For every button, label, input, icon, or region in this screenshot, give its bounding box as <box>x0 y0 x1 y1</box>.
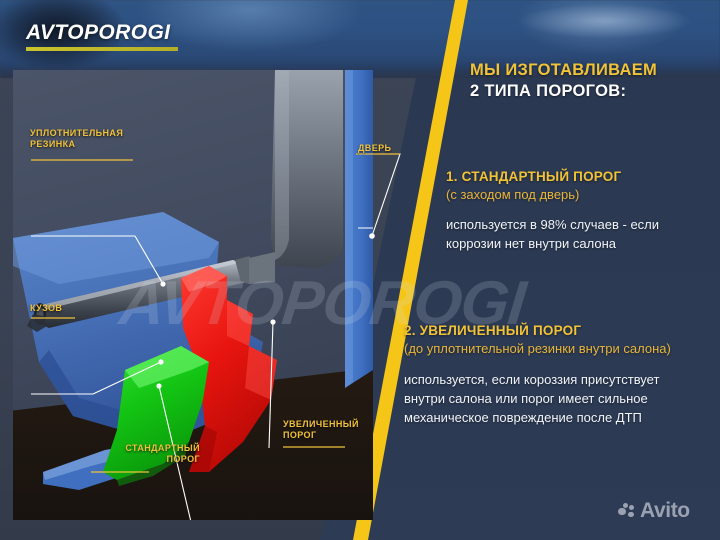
headline-line-2: 2 ТИПА ПОРОГОВ: <box>470 81 710 102</box>
section-extended-subtitle: (до уплотнительной резинки внутри салона… <box>404 340 704 358</box>
avito-watermark: Avito <box>618 500 690 521</box>
section-extended-title: 2. УВЕЛИЧЕННЫЙ ПОРОГ <box>404 322 704 340</box>
brand-name: AVTOPOROGI <box>26 21 178 45</box>
headline-line-1: МЫ ИЗГОТАВЛИВАЕМ <box>470 60 710 81</box>
promo-image: AVTOPOROGI <box>0 0 720 540</box>
photo-highlight <box>520 4 690 38</box>
callout-door: ДВЕРЬ <box>358 143 391 154</box>
avito-dots-icon <box>618 503 636 519</box>
section-extended: 2. УВЕЛИЧЕННЫЙ ПОРОГ (до уплотнительной … <box>404 322 704 427</box>
avito-wordmark: Avito <box>640 500 690 521</box>
door-leader <box>340 140 410 250</box>
section-standard: 1. СТАНДАРТНЫЙ ПОРОГ (с заходом под двер… <box>446 168 708 253</box>
section-extended-body: используется, если короззия присутствует… <box>404 370 704 427</box>
section-standard-title: 1. СТАНДАРТНЫЙ ПОРОГ <box>446 168 708 186</box>
brand-underline <box>26 47 178 51</box>
brand-logo: AVTOPOROGI <box>26 21 178 51</box>
callout-body: КУЗОВ <box>30 303 62 314</box>
section-standard-body: используется в 98% случаев - если корроз… <box>446 215 708 253</box>
callout-extended-sill: УВЕЛИЧЕННЫЙ ПОРОГ <box>283 419 383 441</box>
section-standard-subtitle: (с заходом под дверь) <box>446 186 708 204</box>
callout-rubber-seal: УПЛОТНИТЕЛЬНАЯ РЕЗИНКА <box>30 128 165 150</box>
callout-standard-sill: СТАНДАРТНЫЙ ПОРОГ <box>90 443 200 465</box>
headline-block: МЫ ИЗГОТАВЛИВАЕМ 2 ТИПА ПОРОГОВ: <box>470 60 710 102</box>
